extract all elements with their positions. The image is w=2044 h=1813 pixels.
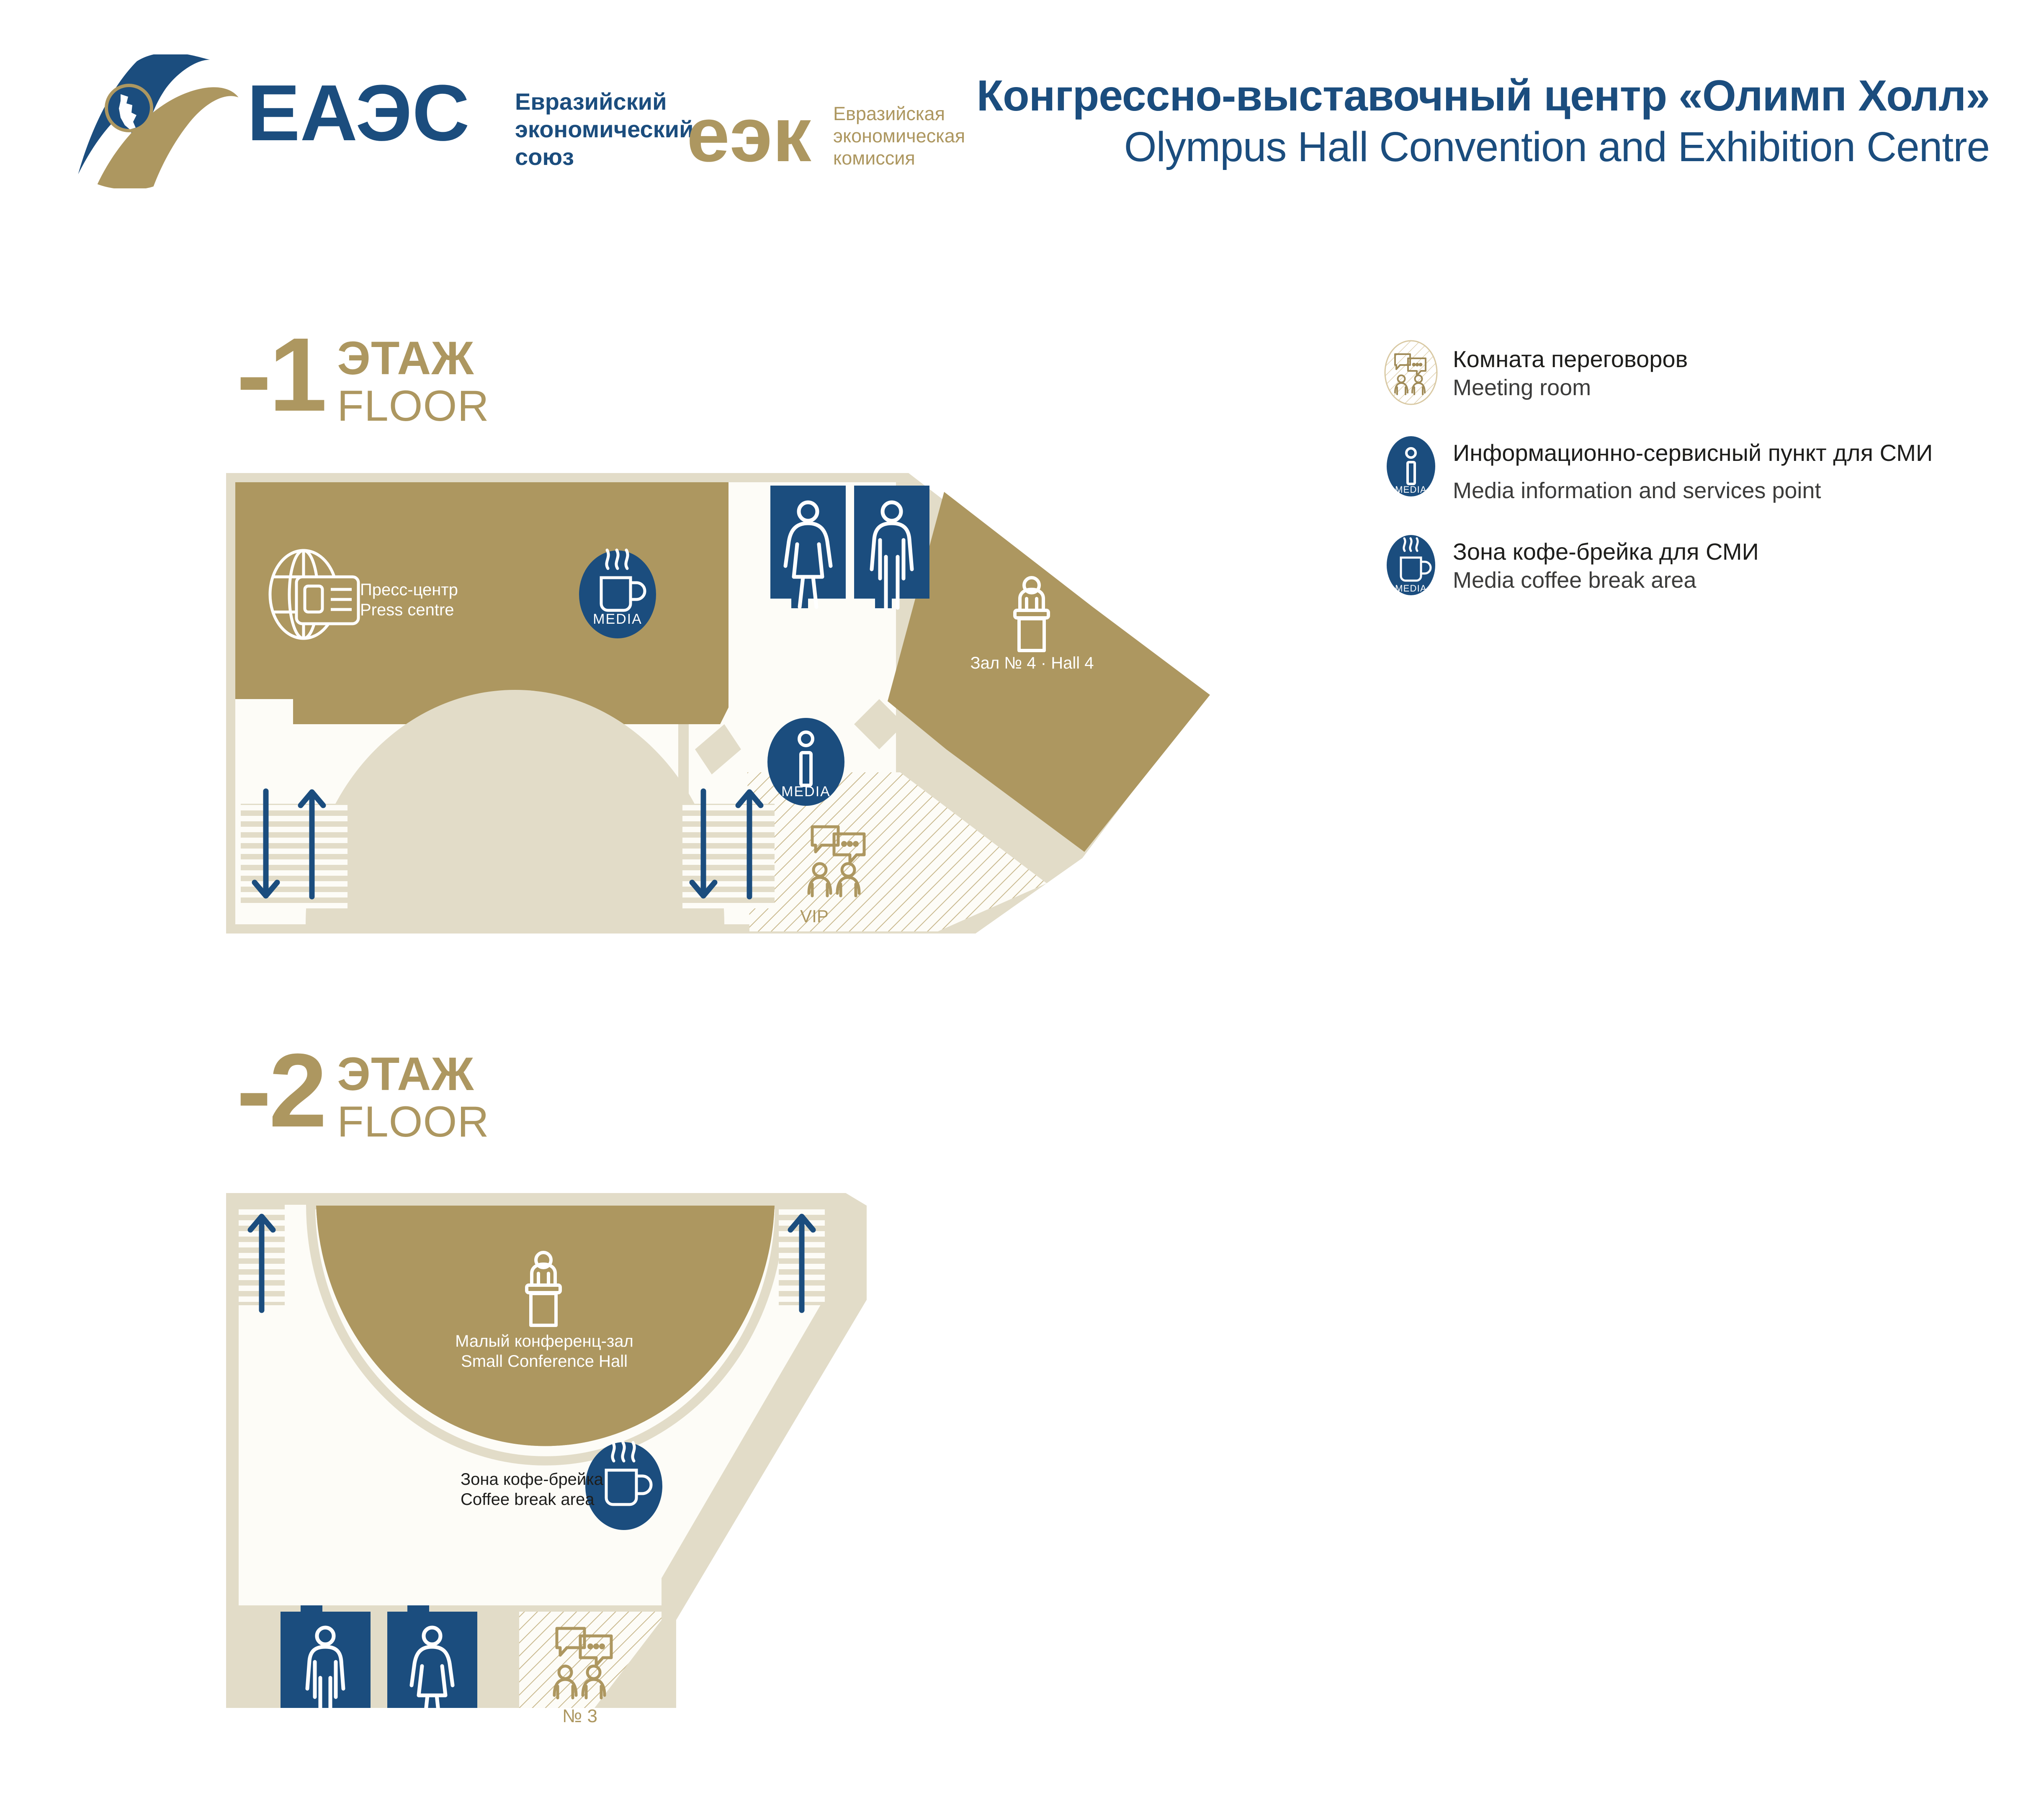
stairs-left: [241, 791, 348, 908]
legend-media-info-text: Информационно-сервисный пункт для СМИ Me…: [1453, 433, 1933, 505]
floor-minus-1-plan: MEDIA MEDIA: [226, 473, 1298, 934]
label-press-centre-ru: Пресс-центр: [360, 580, 458, 600]
legend-media-info-ru: Информационно-сервисный пункт для СМИ: [1453, 439, 1933, 467]
eec-logo: еэк Евразийская экономическая комиссия: [687, 98, 1022, 190]
media-info-marker: MEDIA: [767, 718, 844, 806]
eaeu-line-1: Евразийский: [515, 88, 691, 116]
floor-minus-1-heading: -1 ЭТАЖ FLOOR: [237, 331, 489, 428]
label-press-centre: Пресс-центр Press centre: [360, 580, 458, 620]
eaeu-line-2: экономический: [515, 116, 691, 143]
page-title-en: Olympus Hall Convention and Exhibition C…: [977, 122, 1990, 172]
floor-minus-2-number: -2: [237, 1047, 324, 1134]
legend-media-coffee-caption: MEDIA: [1395, 583, 1427, 594]
media-coffee-caption: MEDIA: [593, 611, 642, 627]
floor-minus-1-label-en: FLOOR: [337, 384, 489, 428]
stairs-right: [682, 791, 775, 908]
legend: Комната переговоров Meeting room MEDIA И…: [1377, 339, 1964, 625]
eaeu-logo-fulltext: Евразийский экономический союз: [515, 88, 691, 171]
legend-media-info-caption: MEDIA: [1395, 484, 1427, 495]
stairs-right-2: [779, 1205, 825, 1310]
floor-minus-2-plan: Малый конференц-зал Small Conference Hal…: [226, 1193, 963, 1708]
legend-item-media-info: MEDIA Информационно-сервисный пункт для …: [1377, 433, 1964, 505]
legend-item-media-coffee: MEDIA Зона кофе-брейка для СМИ Media cof…: [1377, 532, 1964, 599]
label-small-conference-hall: Малый конференц-зал Small Conference Hal…: [435, 1331, 653, 1371]
page-title-ru: Конгрессно-выставочный центр «Олимп Холл…: [977, 71, 1990, 121]
label-coffee-break-area-en: Coffee break area: [461, 1489, 582, 1510]
legend-meeting-room-icon: [1377, 339, 1444, 406]
legend-media-info-en: Media information and services point: [1453, 476, 1933, 505]
media-info-caption: MEDIA: [781, 784, 831, 800]
floor-minus-2-label-en: FLOOR: [337, 1100, 489, 1144]
legend-media-coffee-ru: Зона кофе-брейка для СМИ: [1453, 537, 1759, 566]
page-title: Конгрессно-выставочный центр «Олимп Холл…: [977, 71, 1990, 172]
eaeu-line-3: союз: [515, 143, 691, 171]
label-vip: VIP: [785, 906, 844, 926]
floor-plan-page: ЕАЭС Евразийский экономический союз еэк …: [0, 0, 2044, 1813]
legend-media-info-icon: MEDIA: [1377, 433, 1444, 500]
legend-meeting-room-ru: Комната переговоров: [1453, 345, 1688, 373]
label-small-conference-hall-ru: Малый конференц-зал: [435, 1331, 653, 1351]
floor-minus-2-heading: -2 ЭТАЖ FLOOR: [237, 1047, 489, 1144]
legend-media-coffee-icon: MEDIA: [1377, 532, 1444, 599]
floor-minus-1-number: -1: [237, 331, 324, 419]
label-hall-4: Зал № 4 · Hall 4: [965, 653, 1099, 673]
label-hall-4-text: Зал № 4 · Hall 4: [965, 653, 1099, 673]
eaeu-logo: ЕАЭС Евразийский экономический союз: [71, 54, 628, 188]
legend-media-coffee-en: Media coffee break area: [1453, 566, 1759, 594]
eec-abbreviation: еэк: [687, 98, 811, 178]
label-coffee-break-area: Зона кофе-брейка Coffee break area: [461, 1469, 582, 1510]
page-header: ЕАЭС Евразийский экономический союз еэк …: [0, 0, 2044, 218]
label-press-centre-en: Press centre: [360, 600, 458, 620]
floor-minus-1-label-ru: ЭТАЖ: [337, 337, 489, 380]
label-small-conference-hall-en: Small Conference Hall: [435, 1351, 653, 1371]
legend-media-coffee-text: Зона кофе-брейка для СМИ Media coffee br…: [1453, 532, 1759, 594]
floor-minus-2-label-ru: ЭТАЖ: [337, 1052, 489, 1096]
eaeu-abbreviation: ЕАЭС: [247, 69, 470, 157]
legend-meeting-room-en: Meeting room: [1453, 373, 1688, 402]
stairs-left-2: [239, 1205, 285, 1310]
legend-meeting-room-text: Комната переговоров Meeting room: [1453, 339, 1688, 402]
legend-item-meeting-room: Комната переговоров Meeting room: [1377, 339, 1964, 406]
media-coffee-marker: MEDIA: [579, 550, 656, 638]
label-coffee-break-area-ru: Зона кофе-брейка: [461, 1469, 582, 1489]
label-meeting-room-3: № 3: [546, 1706, 613, 1727]
